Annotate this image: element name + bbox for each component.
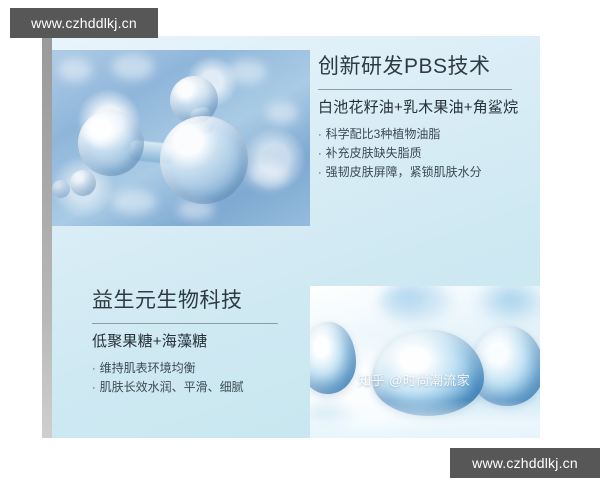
list-item-label: 肌肤长效水润、平滑、细腻 <box>100 378 244 397</box>
prebiotic-divider <box>92 323 278 324</box>
pbs-bullet-list: · 科学配比3种植物油脂 · 补充皮肤缺失脂质 · 强韧皮肤屏障，紧锁肌肤水分 <box>318 125 530 182</box>
list-item-label: 强韧皮肤屏障，紧锁肌肤水分 <box>326 163 482 182</box>
list-item-label: 补充皮肤缺失脂质 <box>326 144 422 163</box>
watermark-bottom-url: www.czhddlkj.cn <box>472 455 578 471</box>
zhihu-watermark: 知乎 @时尚潮流家 <box>358 370 470 389</box>
bubble-shape <box>160 116 248 204</box>
pbs-divider <box>318 89 512 90</box>
section-pbs-technology: 创新研发PBS技术 白池花籽油+乳木果油+角鲨烷 · 科学配比3种植物油脂 · … <box>42 36 540 226</box>
list-item-label: 维持肌表环境均衡 <box>100 359 196 378</box>
water-molecule-bubbles-photo <box>52 50 310 226</box>
bubble-shape <box>70 170 96 196</box>
bullet-dot-icon: · <box>92 361 96 378</box>
blurred-droplet <box>380 286 452 324</box>
bubble-shape <box>52 180 70 198</box>
prebiotic-bullet-list: · 维持肌表环境均衡 · 肌肤长效水润、平滑、细腻 <box>92 359 322 397</box>
bullet-dot-icon: · <box>318 165 322 182</box>
list-item: · 维持肌表环境均衡 <box>92 359 322 378</box>
section-prebiotic-biotech: 益生元生物科技 低聚果糖+海藻糖 · 维持肌表环境均衡 · 肌肤长效水润、平滑、… <box>42 226 540 438</box>
list-item: · 强韧皮肤屏障，紧锁肌肤水分 <box>318 163 530 182</box>
list-item: · 科学配比3种植物油脂 <box>318 125 530 144</box>
list-item: · 肌肤长效水润、平滑、细腻 <box>92 378 322 397</box>
left-edge-strip <box>42 36 52 438</box>
bubble-shape <box>78 110 144 176</box>
watermark-bar-bottom: www.czhddlkj.cn <box>450 448 600 478</box>
pbs-subheadline: 白池花籽油+乳木果油+角鲨烷 <box>318 98 530 118</box>
prebiotic-subheadline: 低聚果糖+海藻糖 <box>92 332 322 352</box>
pbs-headline: 创新研发PBS技术 <box>318 54 530 80</box>
watermark-bar-top: www.czhddlkj.cn <box>10 8 158 38</box>
prebiotic-headline: 益生元生物科技 <box>92 288 322 314</box>
prebiotic-text-block: 益生元生物科技 低聚果糖+海藻糖 · 维持肌表环境均衡 · 肌肤长效水润、平滑、… <box>92 288 322 397</box>
bullet-dot-icon: · <box>318 127 322 144</box>
blurred-droplet <box>478 286 540 322</box>
pbs-text-block: 创新研发PBS技术 白池花籽油+乳木果油+角鲨烷 · 科学配比3种植物油脂 · … <box>318 54 530 182</box>
droplet-shape <box>310 322 356 394</box>
bullet-dot-icon: · <box>318 146 322 163</box>
watermark-top-url: www.czhddlkj.cn <box>31 15 137 31</box>
list-item: · 补充皮肤缺失脂质 <box>318 144 530 163</box>
droplet-surface-sheen <box>310 400 540 438</box>
water-droplet-photo <box>310 286 540 438</box>
bullet-dot-icon: · <box>92 380 96 397</box>
list-item-label: 科学配比3种植物油脂 <box>326 125 441 144</box>
